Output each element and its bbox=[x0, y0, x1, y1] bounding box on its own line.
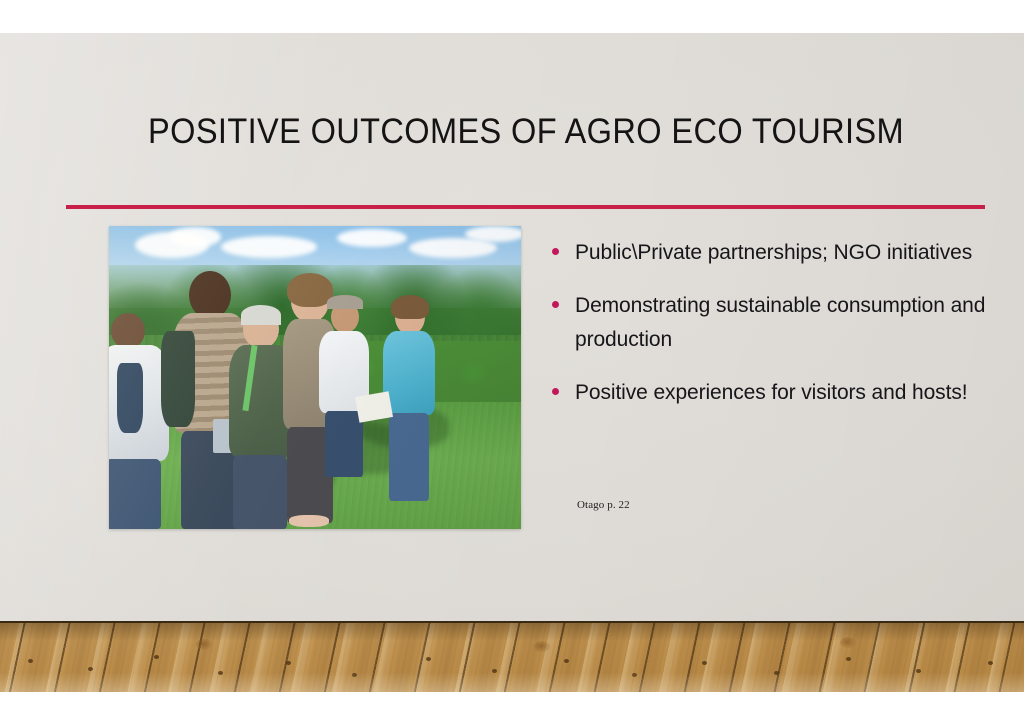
slide-title: POSITIVE OUTCOMES OF AGRO ECO TOURISM bbox=[98, 112, 954, 152]
person-legs bbox=[325, 411, 363, 477]
plank-nail-hole bbox=[154, 655, 159, 659]
person-legs bbox=[389, 413, 429, 501]
bullet-dot-icon bbox=[552, 301, 559, 308]
plank-nail-hole bbox=[286, 661, 291, 665]
cloud-shape bbox=[169, 227, 221, 247]
title-divider-line bbox=[66, 205, 985, 209]
person-cap bbox=[327, 295, 363, 309]
presentation-slide: POSITIVE OUTCOMES OF AGRO ECO TOURISM bbox=[0, 0, 1024, 724]
bullet-list: Public\Private partnerships; NGO initiat… bbox=[552, 236, 990, 429]
plank-nail-hole bbox=[28, 659, 33, 663]
person-torso bbox=[383, 331, 435, 415]
plank-nail-hole bbox=[916, 669, 921, 673]
bullet-dot-icon bbox=[552, 248, 559, 255]
list-item: Demonstrating sustainable consumption an… bbox=[552, 289, 990, 357]
wooden-floor bbox=[0, 621, 1024, 692]
source-citation: Otago p. 22 bbox=[577, 499, 630, 511]
plank-nail-hole bbox=[988, 661, 993, 665]
list-item: Positive experiences for visitors and ho… bbox=[552, 376, 990, 410]
person-head bbox=[189, 271, 231, 319]
list-item: Public\Private partnerships; NGO initiat… bbox=[552, 236, 990, 270]
bullet-text: Positive experiences for visitors and ho… bbox=[575, 376, 990, 410]
floor-planks bbox=[0, 621, 1024, 692]
plank-nail-hole bbox=[492, 669, 497, 673]
person-bag bbox=[117, 363, 143, 433]
person-head bbox=[111, 313, 145, 349]
plank-nail-hole bbox=[632, 673, 637, 677]
plank-nail-hole bbox=[702, 661, 707, 665]
bullet-dot-icon bbox=[552, 388, 559, 395]
plank-nail-hole bbox=[218, 671, 223, 675]
bullet-text: Public\Private partnerships; NGO initiat… bbox=[575, 236, 990, 270]
person-hair bbox=[391, 295, 429, 319]
plank-nail-hole bbox=[88, 667, 93, 671]
cloud-shape bbox=[465, 226, 521, 242]
person-legs bbox=[109, 459, 161, 529]
plank-knot bbox=[840, 637, 856, 648]
photo-person bbox=[319, 293, 371, 477]
plank-nail-hole bbox=[564, 659, 569, 663]
person-backpack bbox=[161, 331, 195, 427]
plank-nail-hole bbox=[774, 671, 779, 675]
person-shoe bbox=[289, 515, 329, 527]
plank-nail-hole bbox=[846, 657, 851, 661]
plank-nail-hole bbox=[352, 673, 357, 677]
bullet-text: Demonstrating sustainable consumption an… bbox=[575, 289, 990, 357]
cloud-shape bbox=[337, 229, 407, 247]
plank-nail-hole bbox=[426, 657, 431, 661]
plank-knot bbox=[534, 641, 550, 652]
farm-tour-photo bbox=[109, 226, 521, 529]
plank-knot bbox=[196, 639, 212, 650]
